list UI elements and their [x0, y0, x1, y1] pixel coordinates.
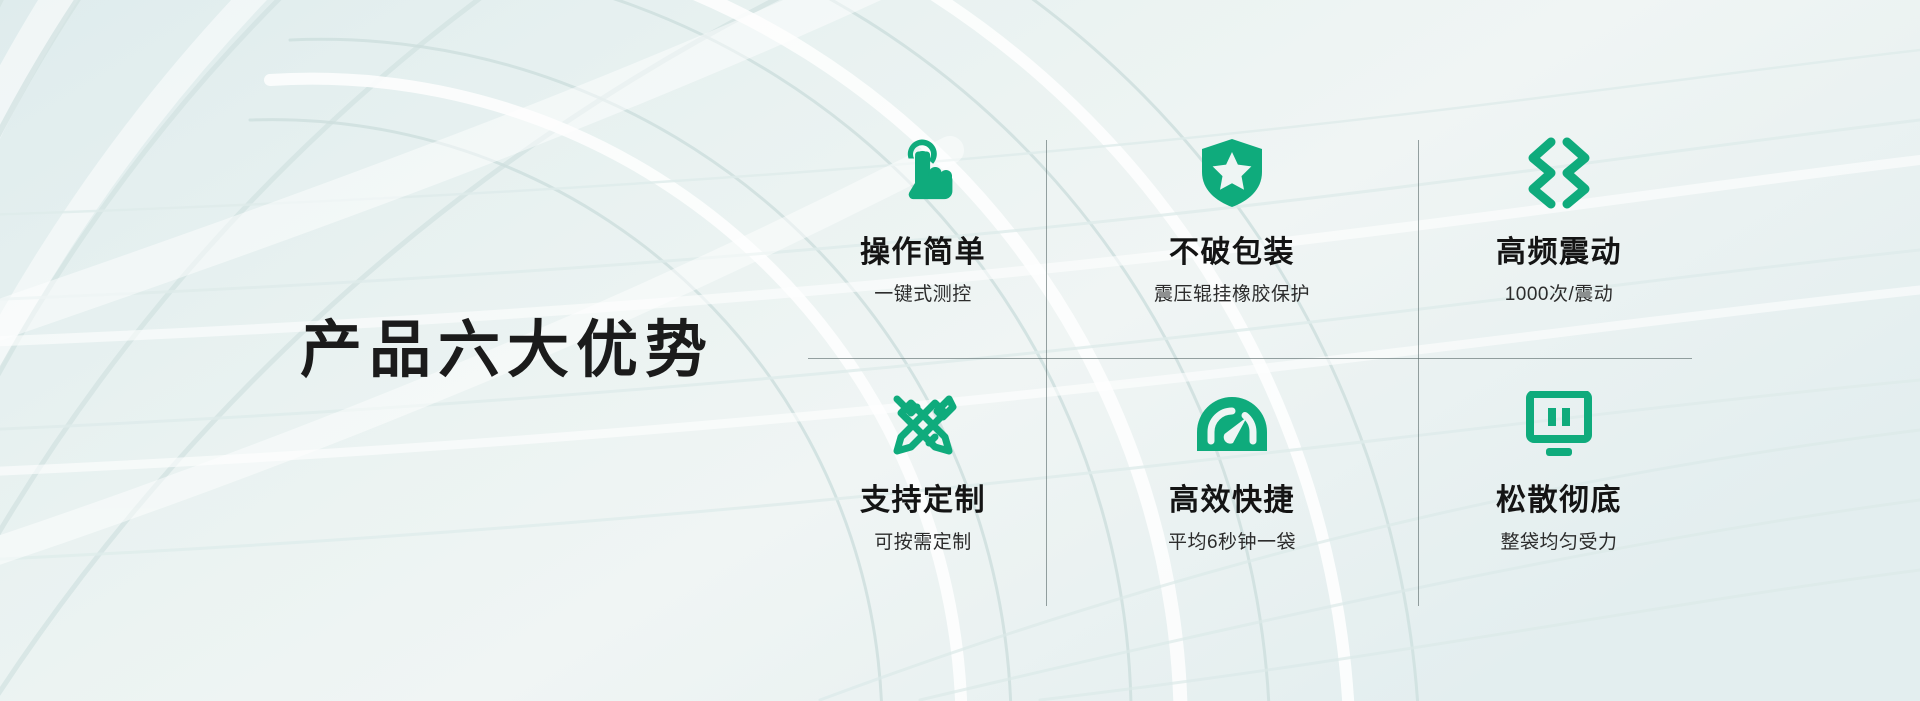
feature-title: 支持定制: [860, 484, 986, 517]
crossed-pencil-ruler-icon: [887, 388, 959, 462]
page-title: 产品六大优势: [300, 320, 714, 382]
vertical-divider-right: [1418, 140, 1419, 606]
banner-content: 产品六大优势: [0, 0, 1920, 701]
feature-title: 操作简单: [860, 236, 986, 269]
shield-star-icon: [1196, 136, 1268, 210]
feature-subtitle: 平均6秒钟一袋: [1168, 532, 1296, 555]
tap-hand-icon: [888, 136, 958, 210]
feature-card-operation-simple[interactable]: 操作简单 一键式测控: [800, 130, 1046, 358]
monitor-bars-icon: [1524, 388, 1594, 462]
feature-title: 高效快捷: [1169, 484, 1295, 517]
vertical-divider-left: [1046, 140, 1047, 606]
title-section: 产品六大优势: [0, 320, 760, 382]
vibration-zigzag-icon: [1521, 136, 1597, 210]
feature-subtitle: 整袋均匀受力: [1500, 532, 1617, 555]
feature-card-high-frequency-vibration[interactable]: 高频震动 1000次/震动: [1418, 130, 1700, 358]
feature-card-thorough-loosening[interactable]: 松散彻底 整袋均匀受力: [1418, 358, 1700, 600]
feature-title: 不破包装: [1169, 236, 1295, 269]
feature-title: 高频震动: [1496, 236, 1622, 269]
feature-subtitle: 1000次/震动: [1505, 284, 1614, 307]
feature-subtitle: 一键式测控: [874, 284, 972, 307]
feature-card-custom-support[interactable]: 支持定制 可按需定制: [800, 358, 1046, 600]
feature-subtitle: 震压辊挂橡胶保护: [1154, 284, 1310, 307]
features-grid: 操作简单 一键式测控 不破包装 震压辊挂橡胶保护: [800, 130, 1700, 600]
banner-stage: 产品六大优势: [0, 0, 1920, 701]
speed-gauge-icon: [1193, 388, 1271, 462]
feature-card-efficient-fast[interactable]: 高效快捷 平均6秒钟一袋: [1046, 358, 1418, 600]
feature-title: 松散彻底: [1496, 484, 1622, 517]
feature-card-no-broken-package[interactable]: 不破包装 震压辊挂橡胶保护: [1046, 130, 1418, 358]
feature-subtitle: 可按需定制: [874, 532, 972, 555]
horizontal-divider: [808, 358, 1692, 359]
